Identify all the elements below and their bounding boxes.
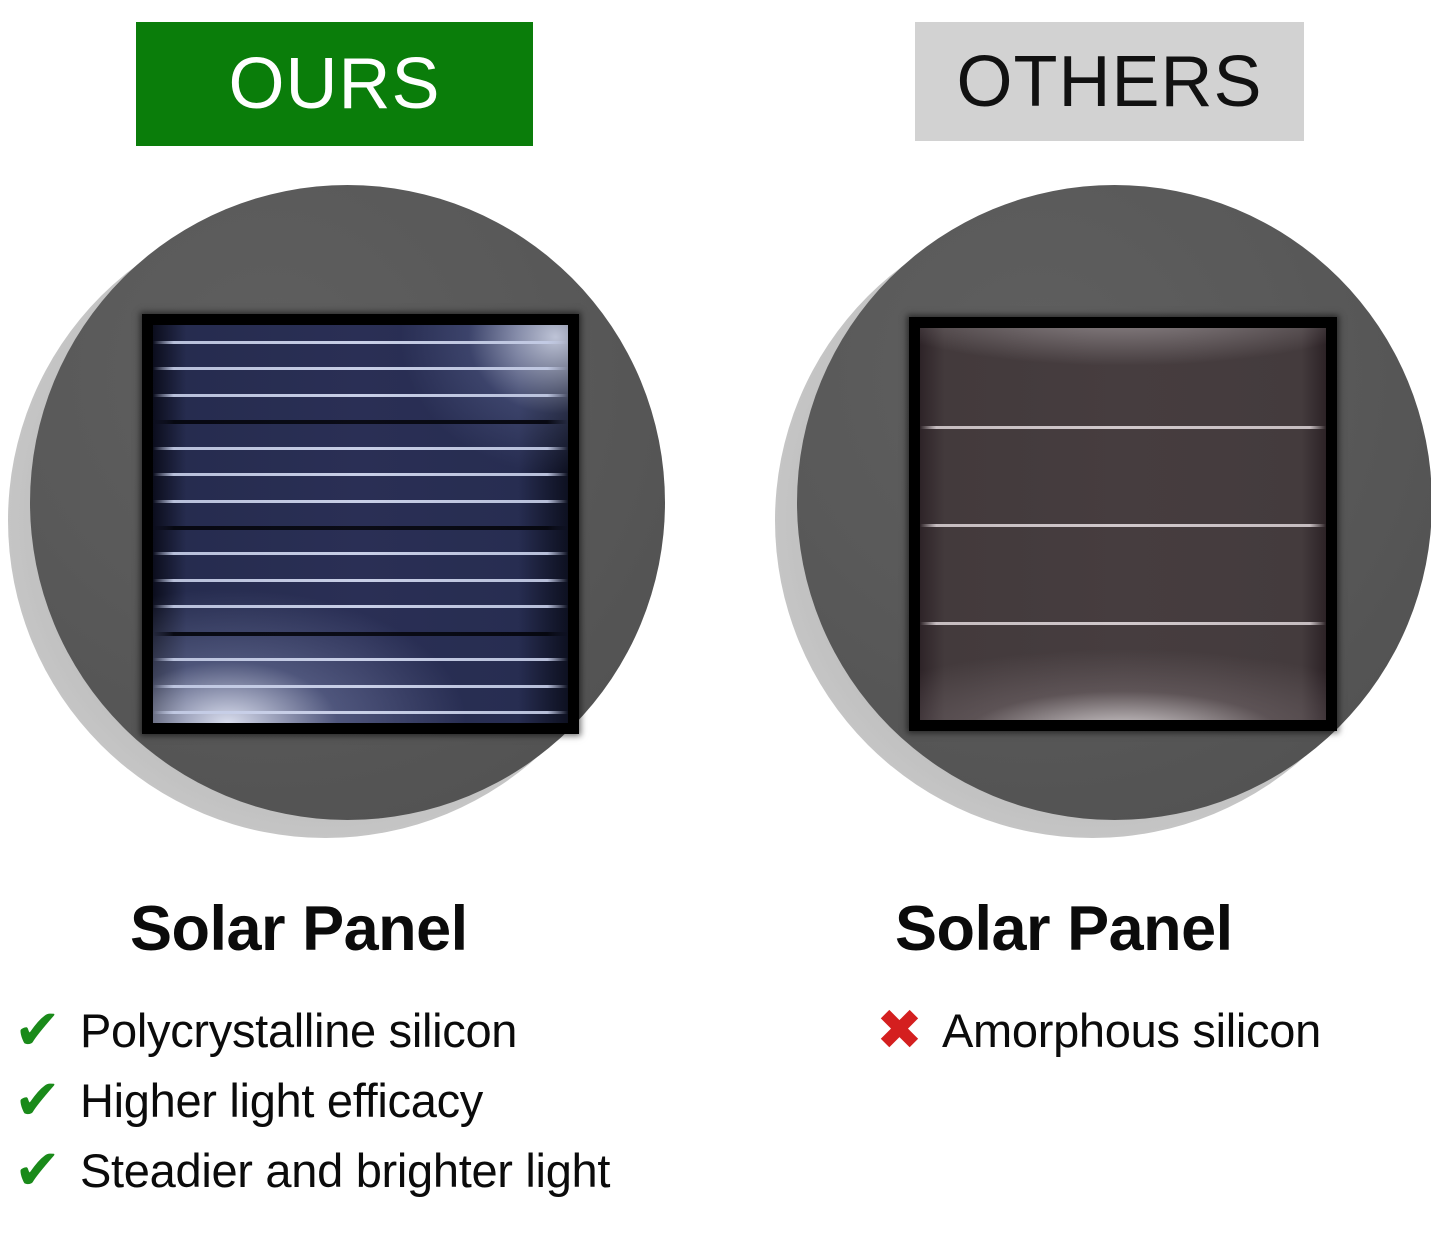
caption-left: Solar Panel <box>130 898 468 961</box>
disc-body-left <box>30 185 665 820</box>
feature-label: Steadier and brighter light <box>80 1147 610 1194</box>
feature-row: ✔Steadier and brighter light <box>14 1135 610 1205</box>
polycrystalline-cell-surface <box>153 325 568 723</box>
feature-list-ours: ✔Polycrystalline silicon✔Higher light ef… <box>14 995 610 1205</box>
solar-panel-left <box>142 314 579 734</box>
solar-panel-right <box>909 317 1337 731</box>
cross-icon: ✖ <box>876 1002 942 1058</box>
feature-label: Polycrystalline silicon <box>80 1007 517 1054</box>
badge-others-label: OTHERS <box>956 46 1262 118</box>
feature-label: Higher light efficacy <box>80 1077 483 1124</box>
badge-ours-label: OURS <box>228 48 440 120</box>
feature-row: ✖Amorphous silicon <box>884 995 1321 1065</box>
badge-ours: OURS <box>136 22 533 146</box>
feature-list-others: ✖Amorphous silicon <box>884 995 1321 1065</box>
check-icon: ✔ <box>14 1142 80 1198</box>
solar-light-right <box>775 185 1431 885</box>
check-icon: ✔ <box>14 1002 80 1058</box>
check-icon: ✔ <box>14 1072 80 1128</box>
feature-row: ✔Higher light efficacy <box>14 1065 610 1135</box>
badge-others: OTHERS <box>915 22 1304 141</box>
solar-light-left <box>8 185 668 885</box>
amorphous-cell-surface <box>920 328 1326 720</box>
solar-panel-left-cell <box>153 325 568 723</box>
solar-panel-right-cell <box>920 328 1326 720</box>
caption-right: Solar Panel <box>895 898 1233 961</box>
feature-row: ✔Polycrystalline silicon <box>14 995 610 1065</box>
feature-label: Amorphous silicon <box>942 1007 1321 1054</box>
disc-body-right <box>797 185 1431 820</box>
